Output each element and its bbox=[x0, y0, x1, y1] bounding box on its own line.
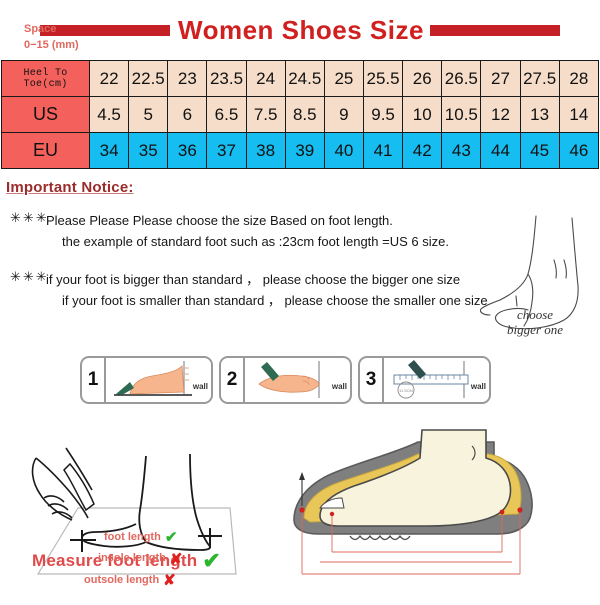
cell-us-12: 14 bbox=[559, 97, 598, 133]
step-number-3: 3 bbox=[360, 358, 384, 402]
cell-heel-12: 28 bbox=[559, 61, 598, 97]
wall-label-2: wall bbox=[332, 382, 347, 391]
cell-us-5: 8.5 bbox=[285, 97, 324, 133]
cell-us-2: 6 bbox=[168, 97, 207, 133]
notice-2-line-2: if your foot is smaller than standard ， … bbox=[46, 290, 488, 311]
space-line-1: Space bbox=[24, 22, 79, 38]
space-annotation: Space 0−15 (mm) bbox=[24, 22, 79, 54]
cell-eu-7: 41 bbox=[363, 133, 402, 169]
asterisk-icon: ✳✳✳ bbox=[6, 210, 46, 226]
wall-label-1: wall bbox=[193, 382, 208, 391]
legend-foot-length-text: foot length bbox=[104, 530, 161, 546]
step-panel-1: 1 wall bbox=[80, 356, 213, 404]
page-header: Women Shoes Size bbox=[0, 0, 600, 60]
step-panel-3: 3 11.5CM wall bbox=[358, 356, 491, 404]
cell-eu-6: 40 bbox=[324, 133, 363, 169]
row-label-us: US bbox=[2, 97, 90, 133]
check-icon: ✔ bbox=[165, 527, 178, 549]
svg-text:11.5CM: 11.5CM bbox=[399, 388, 413, 393]
legend-insole-length: insole length ✘ bbox=[70, 549, 310, 571]
cell-heel-7: 25.5 bbox=[363, 61, 402, 97]
cell-heel-6: 25 bbox=[324, 61, 363, 97]
cell-us-1: 5 bbox=[129, 97, 168, 133]
cell-us-10: 12 bbox=[481, 97, 520, 133]
notice-2-line-1: if your foot is bigger than standard ， p… bbox=[46, 269, 488, 290]
notice-heading: Important Notice: bbox=[6, 179, 600, 196]
size-chart-table: Heel To Toe(cm) 22 22.5 23 23.5 24 24.5 … bbox=[1, 60, 599, 169]
cell-eu-5: 39 bbox=[285, 133, 324, 169]
cell-eu-1: 35 bbox=[129, 133, 168, 169]
legend-outsole-length-text: outsole length bbox=[84, 573, 159, 589]
cell-heel-11: 27.5 bbox=[520, 61, 559, 97]
step-1-illustration: wall bbox=[106, 358, 211, 402]
cell-eu-10: 44 bbox=[481, 133, 520, 169]
cell-eu-12: 46 bbox=[559, 133, 598, 169]
cell-us-8: 10 bbox=[403, 97, 442, 133]
table-row: US 4.5 5 6 6.5 7.5 8.5 9 9.5 10 10.5 12 … bbox=[2, 97, 599, 133]
cell-eu-8: 42 bbox=[403, 133, 442, 169]
cell-us-4: 7.5 bbox=[246, 97, 285, 133]
legend-outsole-length: outsole length ✘ bbox=[70, 570, 310, 592]
wall-label-3: wall bbox=[471, 382, 486, 391]
cell-heel-4: 24 bbox=[246, 61, 285, 97]
foot-sketch-caption: choose bigger one bbox=[480, 308, 590, 338]
cell-heel-1: 22.5 bbox=[129, 61, 168, 97]
notice-1-line-2: the example of standard foot such as :23… bbox=[46, 231, 449, 252]
cell-eu-9: 43 bbox=[442, 133, 481, 169]
cell-eu-4: 38 bbox=[246, 133, 285, 169]
cell-heel-10: 27 bbox=[481, 61, 520, 97]
legend-foot-length: foot length ✔ bbox=[70, 527, 310, 549]
table-row: EU 34 35 36 37 38 39 40 41 42 43 44 45 4… bbox=[2, 133, 599, 169]
step-number-1: 1 bbox=[82, 358, 106, 402]
cross-icon: ✘ bbox=[163, 570, 176, 592]
cell-heel-9: 26.5 bbox=[442, 61, 481, 97]
step-number-2: 2 bbox=[221, 358, 245, 402]
cell-us-11: 13 bbox=[520, 97, 559, 133]
legend-insole-length-text: insole length bbox=[98, 551, 166, 567]
row-label-eu: EU bbox=[2, 133, 90, 169]
cell-us-7: 9.5 bbox=[363, 97, 402, 133]
notice-1-line-1: Please Please Please choose the size Bas… bbox=[46, 210, 449, 231]
cell-heel-5: 24.5 bbox=[285, 61, 324, 97]
cell-us-0: 4.5 bbox=[90, 97, 129, 133]
cell-heel-2: 23 bbox=[168, 61, 207, 97]
asterisk-icon: ✳✳✳ bbox=[6, 269, 46, 285]
step-panel-2: 2 wall bbox=[219, 356, 352, 404]
row-label-heel-to-toe: Heel To Toe(cm) bbox=[2, 61, 90, 97]
cross-icon: ✘ bbox=[170, 549, 183, 571]
cell-us-9: 10.5 bbox=[442, 97, 481, 133]
cell-eu-3: 37 bbox=[207, 133, 246, 169]
title-right-bar bbox=[430, 25, 560, 36]
caption-line-2: bigger one bbox=[480, 323, 590, 338]
cell-eu-0: 34 bbox=[90, 133, 129, 169]
cell-heel-0: 22 bbox=[90, 61, 129, 97]
length-legend: foot length ✔ insole length ✘ outsole le… bbox=[70, 527, 310, 592]
cell-us-6: 9 bbox=[324, 97, 363, 133]
step-3-illustration: 11.5CM wall bbox=[384, 358, 489, 402]
cell-heel-8: 26 bbox=[403, 61, 442, 97]
page-title: Women Shoes Size bbox=[178, 15, 424, 46]
cell-eu-11: 45 bbox=[520, 133, 559, 169]
space-line-2: 0−15 (mm) bbox=[24, 38, 79, 54]
cell-us-3: 6.5 bbox=[207, 97, 246, 133]
step-2-illustration: wall bbox=[245, 358, 350, 402]
cell-heel-3: 23.5 bbox=[207, 61, 246, 97]
caption-line-1: choose bbox=[480, 308, 590, 323]
table-row: Heel To Toe(cm) 22 22.5 23 23.5 24 24.5 … bbox=[2, 61, 599, 97]
measurement-steps: 1 wall 2 bbox=[80, 356, 491, 404]
cell-eu-2: 36 bbox=[168, 133, 207, 169]
